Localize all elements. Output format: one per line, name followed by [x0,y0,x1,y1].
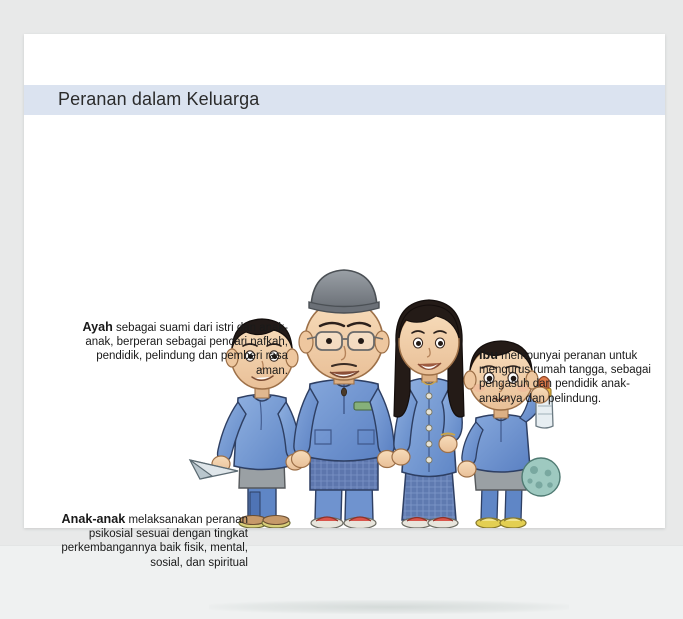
callout-anak-role: Anak-anak [62,512,126,526]
callout-ibu-role: Ibu [479,348,498,362]
ground-shadow [209,600,569,614]
family-illustration: Ayah sebagai suami dari istri dan anak-a… [24,130,665,528]
callout-ibu: Ibu mempunyai peranan untuk mengurus rum… [479,348,669,406]
ball [522,458,560,496]
figure-father [292,270,397,528]
callout-ayah-text: sebagai suami dari istri dan anak-anak, … [85,322,288,377]
page-title: Peranan dalam Keluarga [58,89,259,110]
callout-ibu-text: mempunyai peranan untuk mengurus rumah t… [479,350,651,405]
callout-ayah-role: Ayah [83,320,113,334]
slide-card: Peranan dalam Keluarga [24,34,665,528]
callout-anak-anak: Anak-anak melaksanakan peranan psikosial… [52,512,248,570]
callout-ayah: Ayah sebagai suami dari istri dan anak-a… [66,320,288,378]
figure-mother [392,300,464,528]
